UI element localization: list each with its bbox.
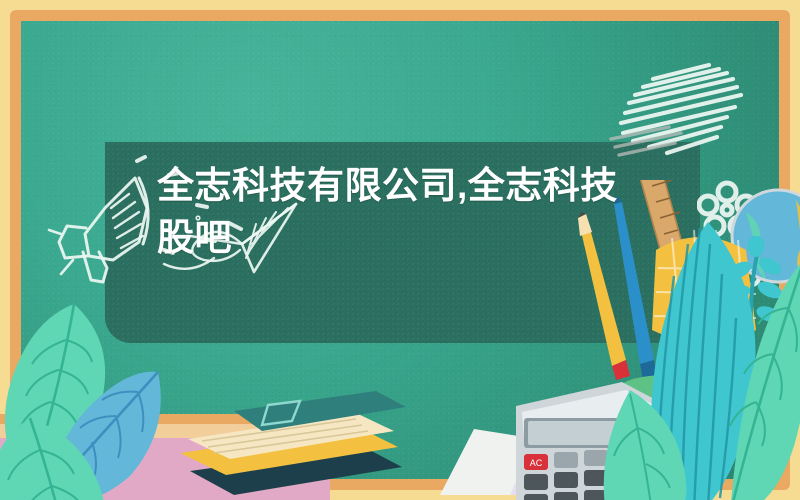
megaphone-chalk-drawing	[43, 156, 163, 286]
svg-text:AC: AC	[530, 458, 543, 468]
cloud-scribble-chalk-drawing	[609, 49, 761, 159]
page-title: 全志科技有限公司,全志科技 股吧	[157, 160, 627, 264]
plant-leaves-left	[0, 290, 220, 500]
banner-image: 全志科技有限公司,全志科技 股吧	[0, 0, 800, 500]
